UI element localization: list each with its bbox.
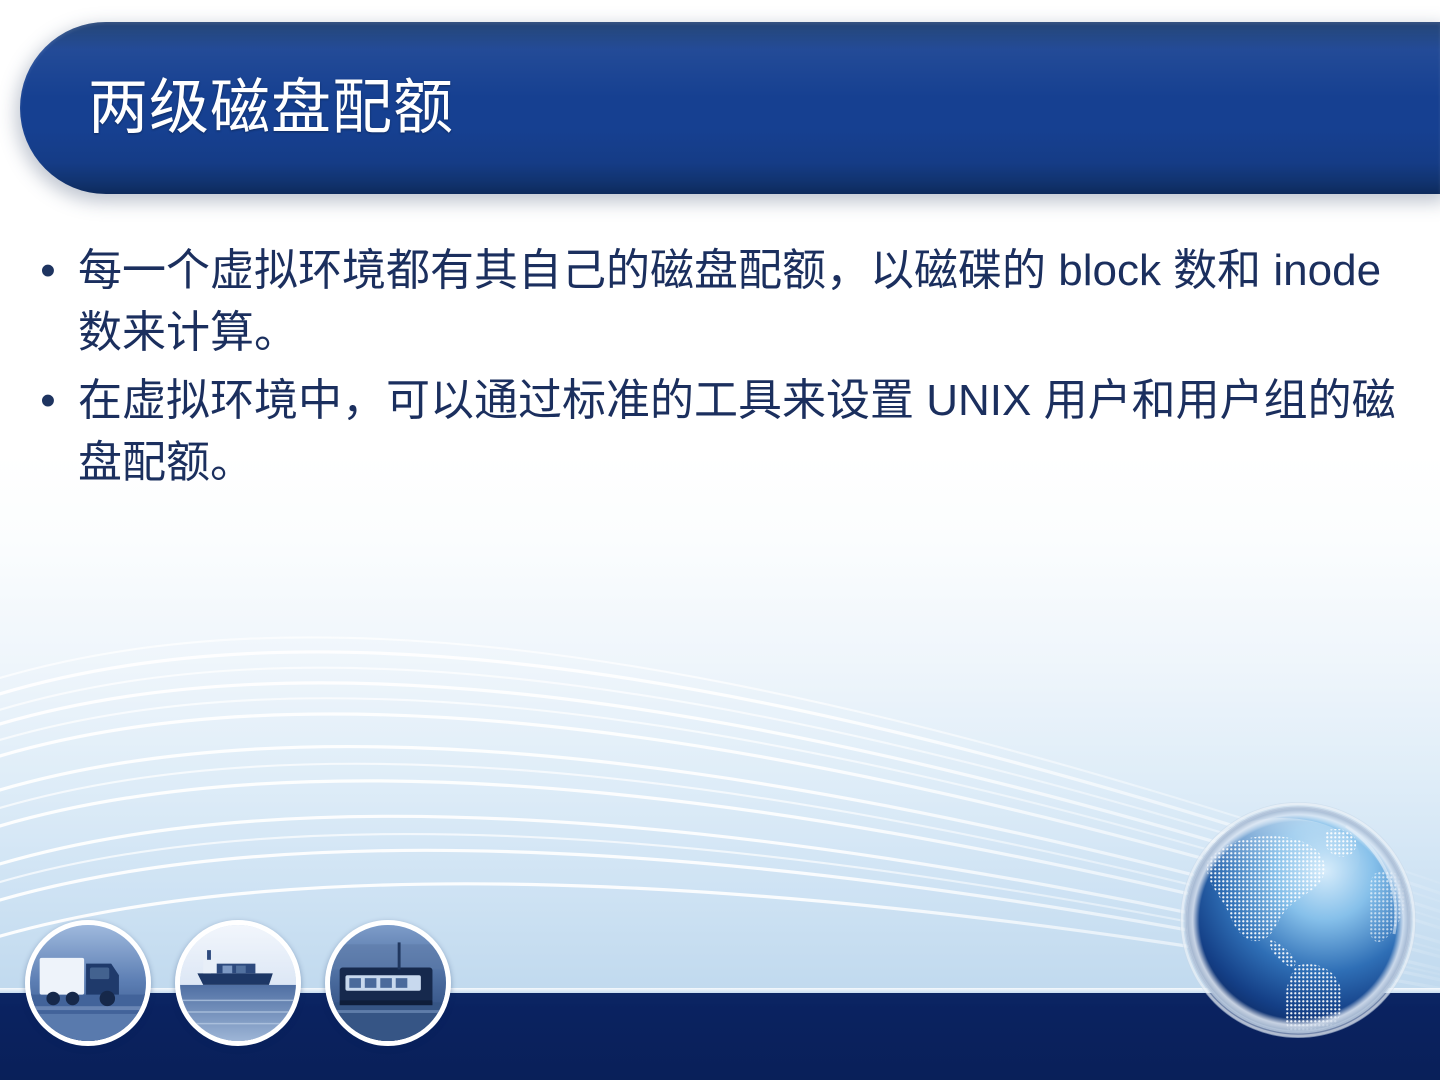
list-item: • 每一个虚拟环境都有其自己的磁盘配额，以磁碟的 block 数和 inode … bbox=[18, 240, 1428, 364]
bullet-marker-icon: • bbox=[18, 240, 78, 302]
list-item: • 在虚拟环境中，可以通过标准的工具来设置 UNIX 用户和用户组的磁盘配额。 bbox=[18, 370, 1428, 494]
bullet-marker-icon: • bbox=[18, 370, 78, 432]
globe-icon bbox=[1178, 800, 1428, 1050]
truck-photo bbox=[25, 920, 151, 1046]
train-photo bbox=[325, 920, 451, 1046]
bullet-text: 每一个虚拟环境都有其自己的磁盘配额，以磁碟的 block 数和 inode 数来… bbox=[78, 240, 1428, 364]
slide-body: • 每一个虚拟环境都有其自己的磁盘配额，以磁碟的 block 数和 inode … bbox=[18, 240, 1428, 500]
bullet-text: 在虚拟环境中，可以通过标准的工具来设置 UNIX 用户和用户组的磁盘配额。 bbox=[78, 370, 1428, 494]
slide: 两级磁盘配额 • 每一个虚拟环境都有其自己的磁盘配额，以磁碟的 block 数和… bbox=[0, 0, 1440, 1080]
page-title: 两级磁盘配额 bbox=[88, 22, 1388, 194]
cargo-ship-photo bbox=[175, 920, 301, 1046]
